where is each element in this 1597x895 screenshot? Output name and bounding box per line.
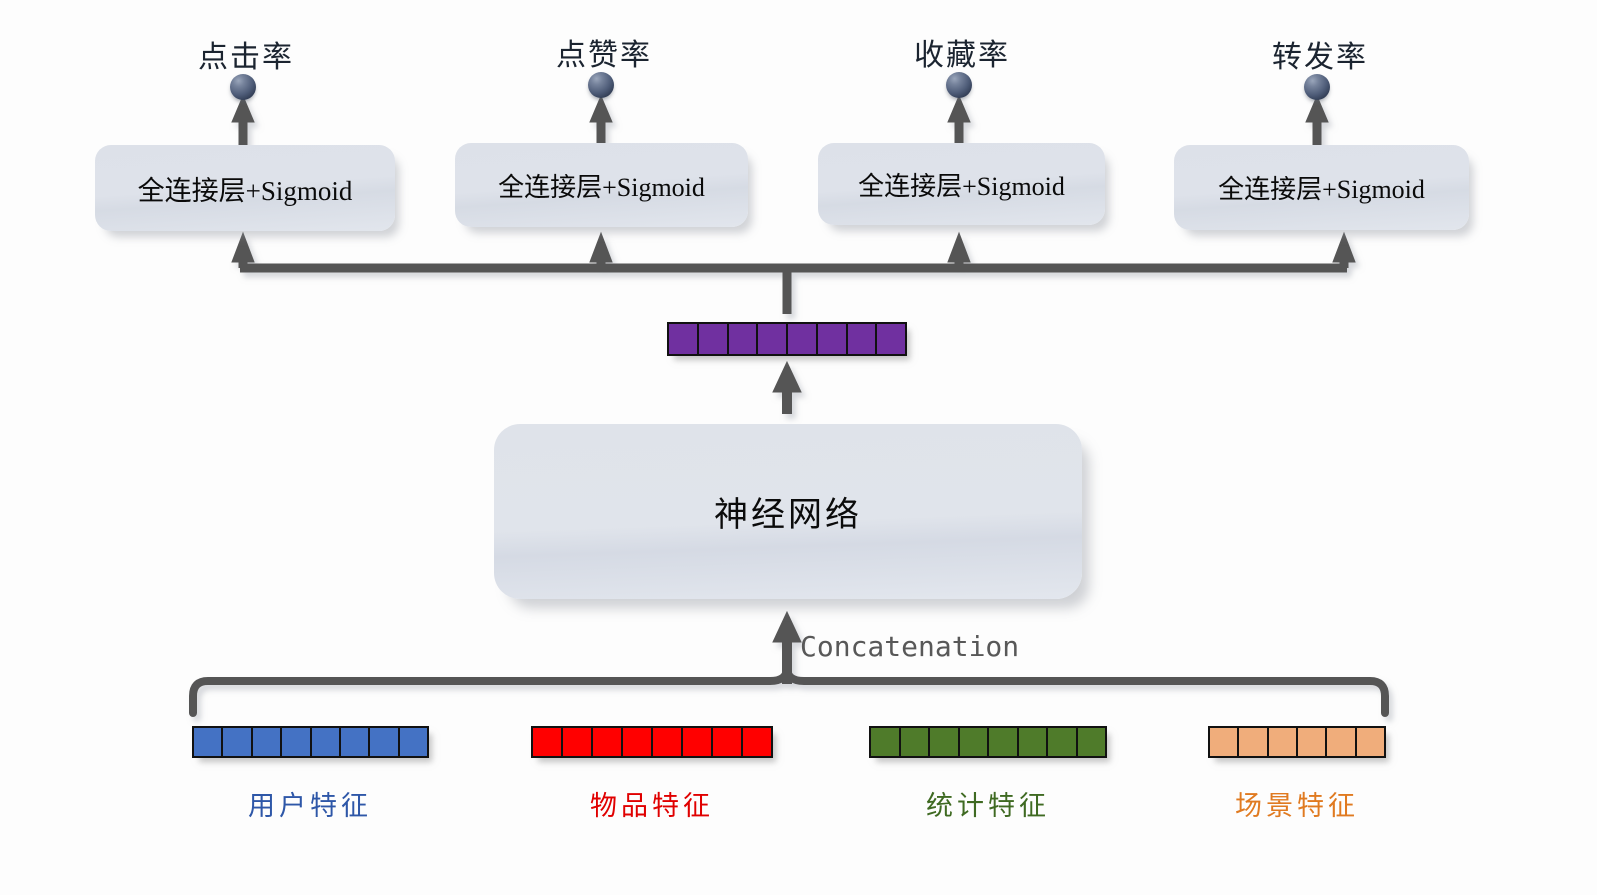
vector-cell — [877, 324, 905, 354]
vector-cell — [1019, 728, 1049, 756]
shared-representation-vector[interactable] — [667, 322, 907, 356]
feature-label-stat: 统计特征 — [868, 784, 1108, 823]
feature-label-item: 物品特征 — [530, 784, 774, 823]
vector-cell — [1357, 728, 1384, 756]
vector-cell — [1298, 728, 1327, 756]
vector-cell — [593, 728, 623, 756]
vector-cell — [930, 728, 960, 756]
vector-cell — [1078, 728, 1106, 756]
concat-brace — [193, 668, 1385, 713]
output-node-share — [1304, 74, 1330, 100]
neural-network-label: 神经网络 — [714, 487, 862, 536]
vector-cell — [699, 324, 729, 354]
vector-cell — [1048, 728, 1078, 756]
vector-cell — [729, 324, 759, 354]
vector-cell — [370, 728, 399, 756]
vector-cell — [1210, 728, 1239, 756]
vector-cell — [533, 728, 563, 756]
vector-cell — [282, 728, 311, 756]
vector-cell — [194, 728, 223, 756]
vector-cell — [901, 728, 931, 756]
tower-label-ctr: 全连接层+Sigmoid — [138, 169, 353, 208]
concatenation-label: Concatenation — [800, 630, 1019, 663]
vector-cell — [1239, 728, 1268, 756]
arrow-bus-to-fav — [948, 233, 970, 268]
vector-cell — [960, 728, 990, 756]
diagram-canvas: 点击率 点赞率 收藏率 转发率 全连接层+Sigmoid 全连接层+Sigmoi… — [0, 0, 1597, 895]
vector-cell — [623, 728, 653, 756]
vector-cell — [788, 324, 818, 354]
vector-cell — [1327, 728, 1356, 756]
feature-vector-scene[interactable] — [1208, 726, 1386, 758]
vector-cell — [713, 728, 743, 756]
output-node-ctr — [230, 74, 256, 100]
vector-cell — [871, 728, 901, 756]
arrow-tower-to-fav — [948, 96, 970, 143]
arrow-tower-to-ctr — [232, 96, 254, 146]
arrow-concat-to-nn — [773, 612, 801, 684]
output-node-fav — [946, 72, 972, 98]
arrow-bus-to-share — [1333, 233, 1355, 268]
output-label-fav: 收藏率 — [912, 30, 1012, 74]
output-label-share: 转发率 — [1270, 32, 1370, 76]
feature-label-scene: 场景特征 — [1207, 784, 1387, 823]
feature-vector-item[interactable] — [531, 726, 773, 758]
tower-label-like: 全连接层+Sigmoid — [498, 167, 705, 204]
tower-box-ctr[interactable]: 全连接层+Sigmoid — [95, 145, 395, 231]
vector-cell — [223, 728, 252, 756]
tower-label-fav: 全连接层+Sigmoid — [858, 166, 1065, 203]
feature-vector-stat[interactable] — [869, 726, 1107, 758]
output-label-ctr: 点击率 — [196, 32, 296, 76]
vector-cell — [341, 728, 370, 756]
vector-cell — [989, 728, 1019, 756]
tower-box-fav[interactable]: 全连接层+Sigmoid — [818, 143, 1105, 225]
tower-label-share: 全连接层+Sigmoid — [1218, 169, 1425, 206]
arrow-nn-to-vector — [773, 362, 801, 414]
vector-cell — [1269, 728, 1298, 756]
vector-cell — [563, 728, 593, 756]
feature-label-user: 用户特征 — [190, 784, 430, 823]
vector-cell — [312, 728, 341, 756]
output-label-like: 点赞率 — [554, 30, 654, 74]
tower-box-share[interactable]: 全连接层+Sigmoid — [1174, 145, 1469, 230]
vector-cell — [253, 728, 282, 756]
arrow-bus-to-ctr — [232, 233, 254, 268]
tower-box-like[interactable]: 全连接层+Sigmoid — [455, 143, 748, 227]
vector-cell — [743, 728, 771, 756]
vector-cell — [400, 728, 427, 756]
vector-cell — [683, 728, 713, 756]
arrow-tower-to-share — [1306, 96, 1328, 146]
feature-vector-user[interactable] — [192, 726, 429, 758]
output-node-like — [588, 72, 614, 98]
vector-cell — [653, 728, 683, 756]
vector-cell — [818, 324, 848, 354]
arrow-bus-to-like — [590, 233, 612, 268]
vector-cell — [848, 324, 878, 354]
arrow-tower-to-like — [590, 96, 612, 143]
vector-cell — [669, 324, 699, 354]
neural-network-box[interactable]: 神经网络 — [494, 424, 1082, 599]
vector-cell — [758, 324, 788, 354]
